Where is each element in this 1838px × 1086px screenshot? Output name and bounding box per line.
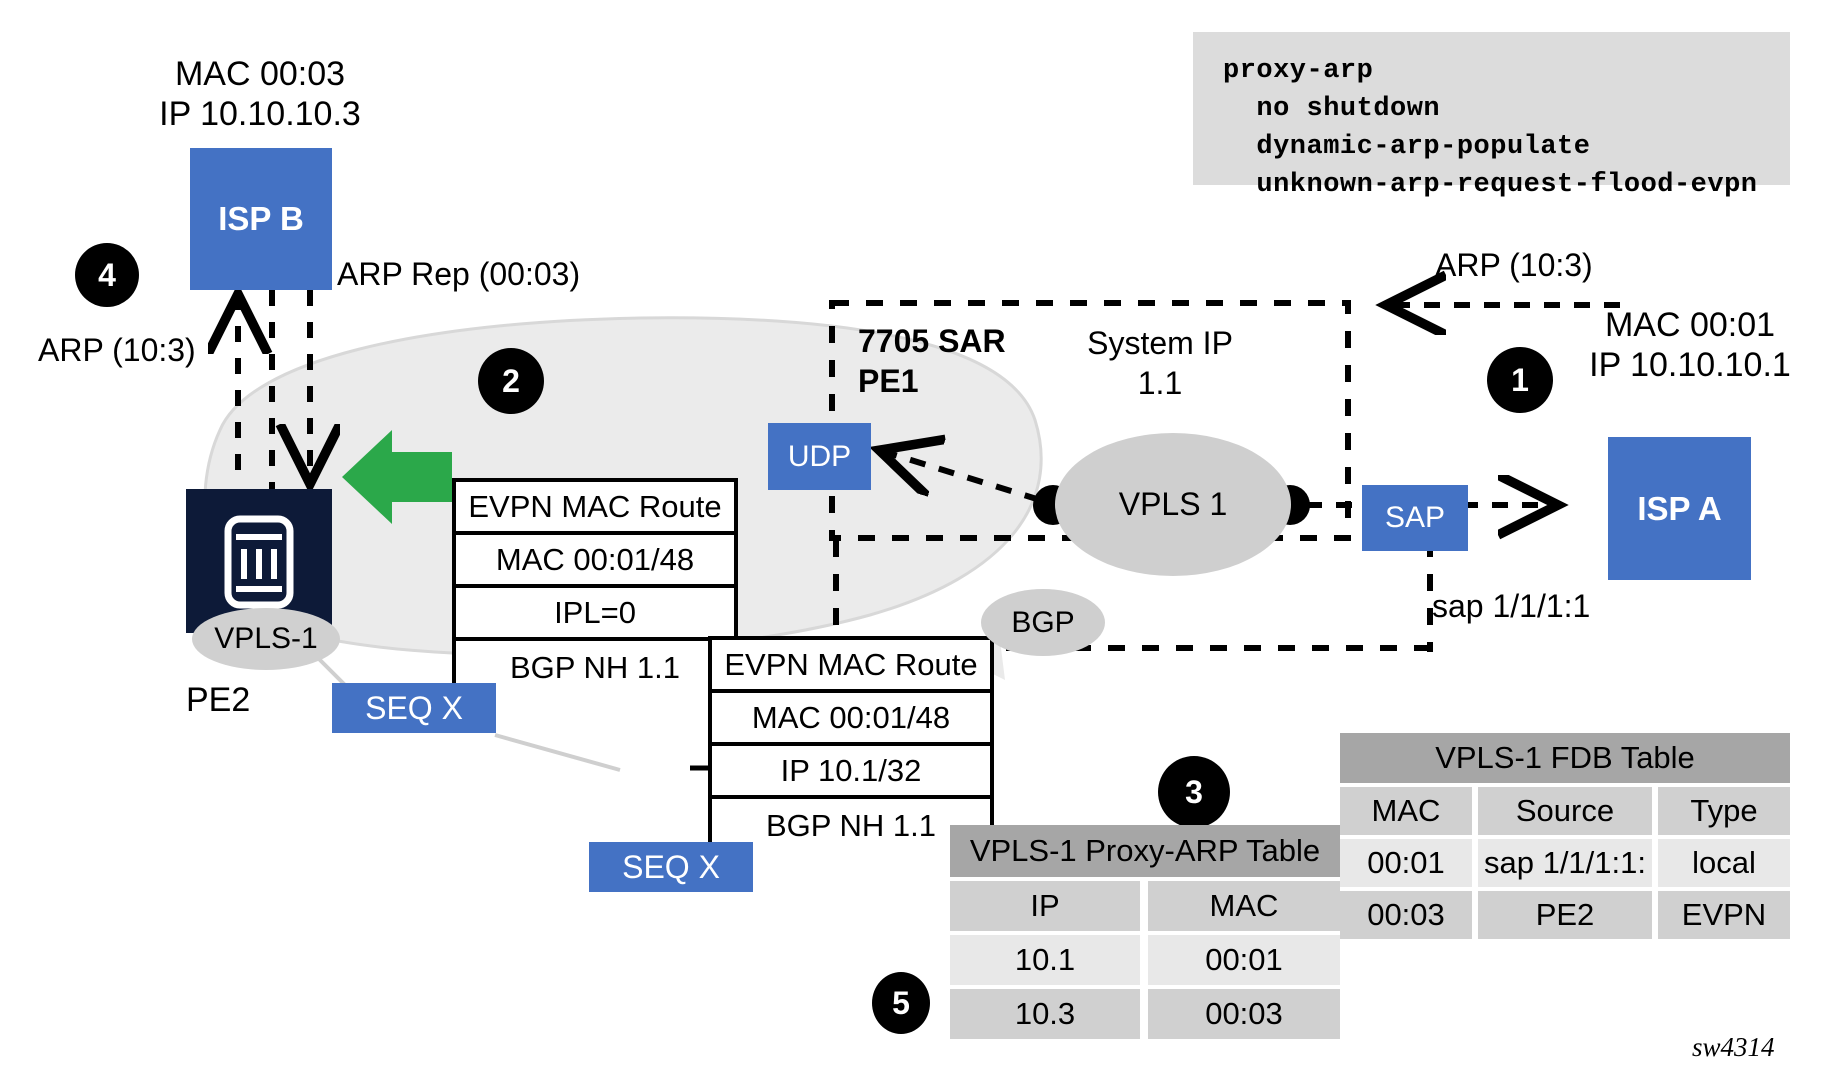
evpn-route-2-seq-label: SEQ X (622, 849, 720, 886)
fdb-table-header-row: MAC Source Type (1340, 783, 1790, 835)
evpn-route-2-row-1: MAC 00:01/48 (712, 693, 990, 746)
evpn-route-table-1: EVPN MAC Route MAC 00:01/48 IPL=0 BGP NH… (452, 478, 738, 692)
isp-b-node-label: ISP B (218, 200, 304, 238)
isp-a-node-label: ISP A (1637, 490, 1721, 528)
fdb-table-title: VPLS-1 FDB Table (1340, 733, 1790, 783)
arp-reply-label: ARP Rep (00:03) (337, 256, 580, 294)
fdb-table-row: 00:01 sap 1/1/1:1: local (1340, 835, 1790, 887)
fdb-r0-source: sap 1/1/1:1: (1478, 839, 1652, 887)
fdb-r0-type: local (1658, 839, 1790, 887)
evpn-route-1-row-1: MAC 00:01/48 (456, 535, 734, 588)
fdb-col-type: Type (1658, 787, 1790, 835)
config-line-1: proxy-arp (1223, 56, 1373, 86)
pe1-title-line1: 7705 SAR (858, 323, 1006, 361)
config-line-4: unknown-arp-request-flood-evpn (1223, 170, 1757, 200)
pe1-system-ip-line2: 1.1 (1040, 365, 1280, 403)
config-line-3: dynamic-arp-populate (1223, 132, 1590, 162)
config-line-2: no shutdown (1223, 94, 1440, 124)
fdb-r0-mac: 00:01 (1340, 839, 1472, 887)
evpn-route-2-row-0: EVPN MAC Route (712, 640, 990, 693)
step-badge-5-number: 5 (892, 985, 910, 1022)
evpn-route-1-row-2: IPL=0 (456, 588, 734, 641)
evpn-route-1-seq-badge: SEQ X (332, 683, 496, 733)
proxy-arp-table: VPLS-1 Proxy-ARP Table IP MAC 10.1 00:01… (950, 825, 1340, 1039)
isp-b-ip-label: IP 10.10.10.3 (110, 94, 410, 134)
pe1-title-line2: PE1 (858, 363, 918, 401)
evpn-route-2-row-2: IP 10.1/32 (712, 746, 990, 799)
proxy-arp-r0-ip: 10.1 (950, 935, 1140, 985)
isp-b-mac-label: MAC 00:03 (110, 54, 410, 94)
proxy-arp-table-row: 10.3 00:03 (950, 985, 1340, 1039)
fdb-col-source: Source (1478, 787, 1652, 835)
step-badge-4: 4 (75, 243, 139, 307)
evpn-route-1-row-3: BGP NH 1.1 (456, 641, 734, 694)
proxy-arp-col-ip: IP (950, 881, 1140, 931)
step-badge-2-number: 2 (502, 363, 520, 400)
step-badge-4-number: 4 (98, 257, 116, 294)
evpn-route-1-row-0: EVPN MAC Route (456, 482, 734, 535)
arp-request-left-label: ARP (10:3) (38, 332, 196, 370)
vpls-1-label: VPLS 1 (1119, 486, 1228, 523)
vpls-1-service-ellipse: VPLS 1 (1055, 433, 1291, 576)
udp-label: UDP (788, 440, 851, 474)
proxy-arp-table-header-row: IP MAC (950, 877, 1340, 931)
proxy-arp-table-title: VPLS-1 Proxy-ARP Table (950, 825, 1340, 877)
step-badge-2: 2 (478, 348, 544, 414)
bgp-label: BGP (1011, 606, 1074, 640)
isp-b-node[interactable]: ISP B (190, 148, 332, 290)
step-badge-5: 5 (872, 972, 930, 1034)
evpn-route-2-seq-badge: SEQ X (589, 842, 753, 892)
evpn-route-1-seq-label: SEQ X (365, 690, 463, 727)
sap-box: SAP (1362, 485, 1468, 551)
sap-id-label: sap 1/1/1:1 (1432, 588, 1590, 626)
pe1-system-ip-line1: System IP (1040, 325, 1280, 363)
fdb-table-row: 00:03 PE2 EVPN (1340, 887, 1790, 939)
fdb-col-mac: MAC (1340, 787, 1472, 835)
step-badge-1-number: 1 (1511, 362, 1529, 399)
figure-id-watermark: sw4314 (1692, 1032, 1775, 1063)
proxy-arp-col-mac: MAC (1148, 881, 1340, 931)
isp-a-mac-label: MAC 00:01 (1540, 305, 1838, 345)
pe2-vpls-service-label: VPLS-1 (192, 608, 340, 670)
step-badge-3: 3 (1158, 756, 1230, 828)
fdb-r1-source: PE2 (1478, 891, 1652, 939)
fdb-r1-type: EVPN (1658, 891, 1790, 939)
proxy-arp-config-box: proxy-arp no shutdown dynamic-arp-popula… (1193, 32, 1790, 185)
udp-encapsulation-box: UDP (768, 423, 871, 490)
proxy-arp-r0-mac: 00:01 (1148, 935, 1340, 985)
proxy-arp-r1-ip: 10.3 (950, 989, 1140, 1039)
proxy-arp-r1-mac: 00:03 (1148, 989, 1340, 1039)
pe2-node-label: PE2 (186, 680, 250, 720)
evpn-route-2-row-3: BGP NH 1.1 (712, 799, 990, 852)
evpn-route-table-2: EVPN MAC Route MAC 00:01/48 IP 10.1/32 B… (708, 636, 994, 850)
arp-request-right-label: ARP (10:3) (1435, 247, 1593, 285)
bgp-session-ellipse: BGP (981, 589, 1105, 656)
proxy-arp-table-row: 10.1 00:01 (950, 931, 1340, 985)
diagram-canvas: proxy-arp no shutdown dynamic-arp-popula… (0, 0, 1838, 1086)
sap-label: SAP (1385, 501, 1445, 535)
isp-a-node[interactable]: ISP A (1608, 437, 1751, 580)
fdb-table: VPLS-1 FDB Table MAC Source Type 00:01 s… (1340, 733, 1790, 939)
step-badge-3-number: 3 (1185, 774, 1203, 811)
seq-connector (495, 735, 620, 770)
isp-a-ip-label: IP 10.10.10.1 (1540, 345, 1838, 385)
pe2-vpls-service-text: VPLS-1 (214, 622, 317, 656)
fdb-r1-mac: 00:03 (1340, 891, 1472, 939)
